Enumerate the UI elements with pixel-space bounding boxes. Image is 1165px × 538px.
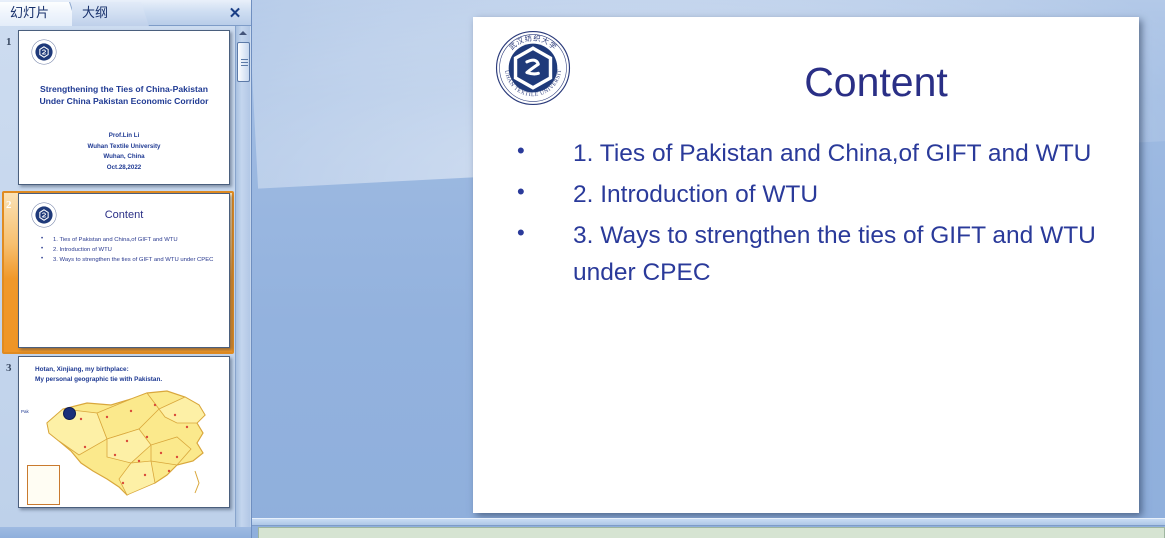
- thumbnail-canvas-3: Hotan, Xinjiang, my birthplace: My perso…: [18, 356, 230, 508]
- thumb1-title: Strengthening the Ties of China-Pakistan…: [29, 83, 219, 107]
- thumb1-date: Oct.28,2022: [29, 163, 219, 174]
- thumb2-bullet: 3. Ways to strengthen the ties of GIFT a…: [39, 256, 223, 265]
- navigator-tab-strip: 幻灯片 大纲 ✕: [0, 0, 251, 26]
- thumb3-caption-line2: My personal geographic tie with Pakistan…: [35, 375, 162, 385]
- slide-thumbnail-1[interactable]: 1 Strengthening the Ties of China-Pakist…: [0, 26, 236, 189]
- slide-thumbnail-list[interactable]: 1 Strengthening the Ties of China-Pakist…: [0, 26, 236, 527]
- tab-slides[interactable]: 幻灯片: [0, 2, 68, 26]
- thumbnail-canvas-2: Content 1. Ties of Pakistan and China,of…: [18, 193, 230, 348]
- wtu-logo-icon: 武汉纺织大学 WUHAN TEXTILE UNIVERSITY: [495, 30, 571, 106]
- thumbnail-canvas-1: Strengthening the Ties of China-Pakistan…: [18, 30, 230, 185]
- thumb1-city: Wuhan, China: [29, 152, 219, 163]
- thumb1-subtitle: Prof.Lin Li Wuhan Textile University Wuh…: [29, 131, 219, 173]
- pakistan-label: Pak: [21, 409, 29, 414]
- tab-outline-label: 大纲: [82, 6, 108, 21]
- slide-number-2: 2: [6, 199, 12, 211]
- slide-bullet-list[interactable]: 1. Ties of Pakistan and China,of GIFT an…: [503, 135, 1119, 295]
- notes-splitter[interactable]: [252, 518, 1165, 526]
- thumb3-caption-line1: Hotan, Xinjiang, my birthplace:: [35, 365, 162, 375]
- close-icon[interactable]: ✕: [225, 3, 245, 22]
- thumb2-bullet: 1. Ties of Pakistan and China,of GIFT an…: [39, 236, 223, 245]
- slide-bullet-2[interactable]: 2. Introduction of WTU: [503, 176, 1119, 213]
- left-pane-bottom-filler: [0, 527, 252, 538]
- slide-thumbnail-2[interactable]: 2 Content 1. Ties of Pakistan and China,…: [0, 189, 236, 352]
- thumb2-title: Content: [19, 209, 229, 221]
- slide-number-1: 1: [6, 36, 12, 48]
- tab-slides-label: 幻灯片: [10, 6, 49, 21]
- notes-pane[interactable]: [258, 527, 1165, 538]
- slide-bullet-1[interactable]: 1. Ties of Pakistan and China,of GIFT an…: [503, 135, 1119, 172]
- wtu-logo-icon: [31, 39, 57, 65]
- slide-editing-area[interactable]: 武汉纺织大学 WUHAN TEXTILE UNIVERSITY Content …: [252, 0, 1165, 512]
- scroll-up-icon[interactable]: [236, 26, 250, 40]
- slide-navigator-pane: 幻灯片 大纲 ✕ 1: [0, 0, 252, 527]
- slide-bullet-3[interactable]: 3. Ways to strengthen the ties of GIFT a…: [503, 217, 1119, 291]
- slide-number-3: 3: [6, 362, 12, 374]
- powerpoint-window: 幻灯片 大纲 ✕ 1: [0, 0, 1165, 538]
- thumb1-university: Wuhan Textile University: [29, 142, 219, 153]
- thumb3-caption: Hotan, Xinjiang, my birthplace: My perso…: [35, 365, 162, 384]
- page-title[interactable]: Content: [653, 59, 1099, 106]
- thumb1-author: Prof.Lin Li: [29, 131, 219, 142]
- thumb2-bullet: 2. Introduction of WTU: [39, 246, 223, 255]
- scrollbar-thumb[interactable]: [237, 42, 250, 82]
- map-inset-box: [27, 465, 60, 505]
- thumb2-bullet-list: 1. Ties of Pakistan and China,of GIFT an…: [39, 236, 223, 266]
- slide-thumbnail-3[interactable]: 3 Hotan, Xinjiang, my birthplace: My per…: [0, 352, 236, 512]
- thumbnail-scrollbar[interactable]: [235, 26, 250, 527]
- tab-outline[interactable]: 大纲: [72, 2, 138, 26]
- hotan-marker-icon: [63, 407, 76, 420]
- notes-area: [252, 512, 1165, 538]
- current-slide-canvas[interactable]: 武汉纺织大学 WUHAN TEXTILE UNIVERSITY Content …: [473, 17, 1139, 513]
